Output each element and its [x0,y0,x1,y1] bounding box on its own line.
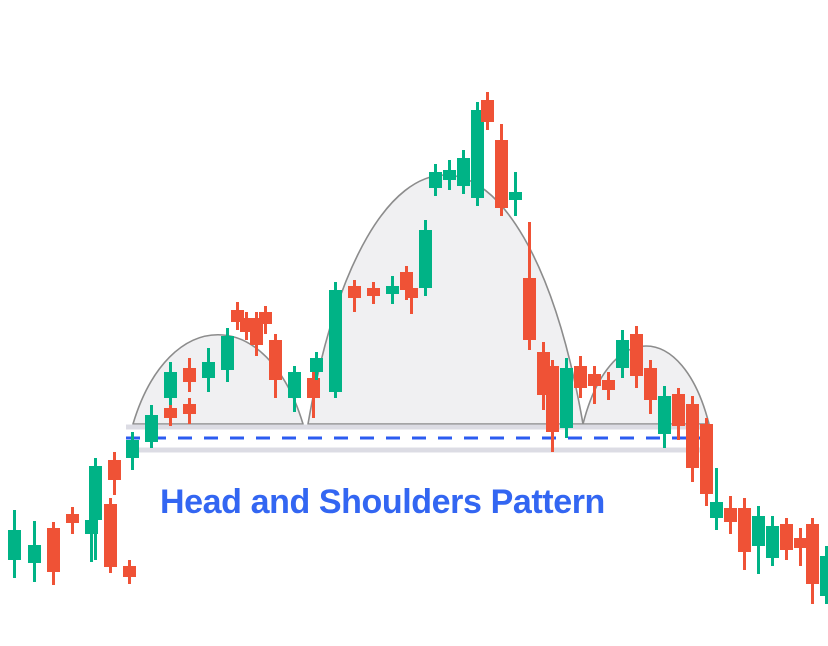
candle-body [123,566,136,577]
candle-body [630,334,643,376]
candle-body [269,340,282,380]
candle-body [8,530,21,560]
candlestick-up [820,546,828,604]
candlestick-down [47,522,60,585]
candle-body [47,528,60,572]
candle-body [164,408,177,418]
neckline-layer [126,427,709,450]
candlestick-down [123,560,136,584]
candlestick-up [560,358,573,438]
candle-body [780,524,793,550]
candle-body [419,230,432,288]
candlestick-down [724,496,737,534]
candle-body [700,424,713,494]
candle-body [348,286,361,298]
candle-body [806,524,819,584]
candle-body [658,396,671,434]
candle-body [509,192,522,200]
candle-body [724,508,737,522]
candlestick-down [806,518,819,604]
candle-body [108,460,121,480]
candlestick-down [66,507,79,534]
candlestick-down [738,498,751,570]
pattern-title: Head and Shoulders Pattern [160,483,605,521]
candlestick-down [672,388,685,440]
candle-body [126,440,139,458]
candle-body [329,290,342,392]
candle-body [202,362,215,378]
candle-body [367,288,380,296]
candlestick-down [700,418,713,506]
candle-body [686,404,699,468]
candlestick-down [794,528,807,566]
candle-body [307,378,320,398]
candlestick-up [419,220,432,296]
candle-body [164,372,177,398]
candle-body [310,358,323,372]
candle-body [471,110,484,198]
candlestick-up [766,516,779,566]
candle-body [231,310,244,322]
candle-body [443,170,456,180]
candle-body [89,466,102,520]
candlestick-down [104,498,117,573]
candle-body [386,286,399,294]
candle-body [644,368,657,400]
candle-body [250,318,263,345]
candle-body [104,504,117,567]
candle-body [66,514,79,523]
candle-body [495,140,508,208]
candle-body [560,368,573,428]
candle-body [752,516,765,546]
candle-body [183,404,196,414]
candlestick-up [509,172,522,216]
candlestick-up [8,510,21,578]
candle-body [145,415,158,442]
candle-body [766,526,779,558]
candlestick-down [495,124,508,216]
candle-body [400,272,413,290]
candle-body [523,278,536,340]
candle-body [710,502,723,518]
pattern-arc-layer [133,175,709,424]
candle-body [602,380,615,390]
candle-body [221,336,234,370]
candle-body [429,172,442,188]
candle-body [288,372,301,398]
candlestick-down [108,452,121,495]
chart-canvas: Head and Shoulders Pattern [0,0,828,646]
candle-body [183,368,196,382]
candle-body [457,158,470,186]
candlestick-down [686,396,699,482]
candle-body [574,366,587,388]
candle-body [794,538,807,548]
candle-body [588,374,601,386]
candle-body [481,100,494,122]
candlestick-up [28,521,41,582]
candlestick-up [752,506,765,574]
candle-body [672,394,685,426]
candle-body [738,508,751,552]
candle-body [546,366,559,432]
candle-body [616,340,629,368]
candle-body [28,545,41,563]
candlestick-chart: Head and Shoulders Pattern [0,0,828,646]
candle-body [820,556,828,596]
candlestick-up [329,282,342,398]
candlestick-down [780,518,793,560]
